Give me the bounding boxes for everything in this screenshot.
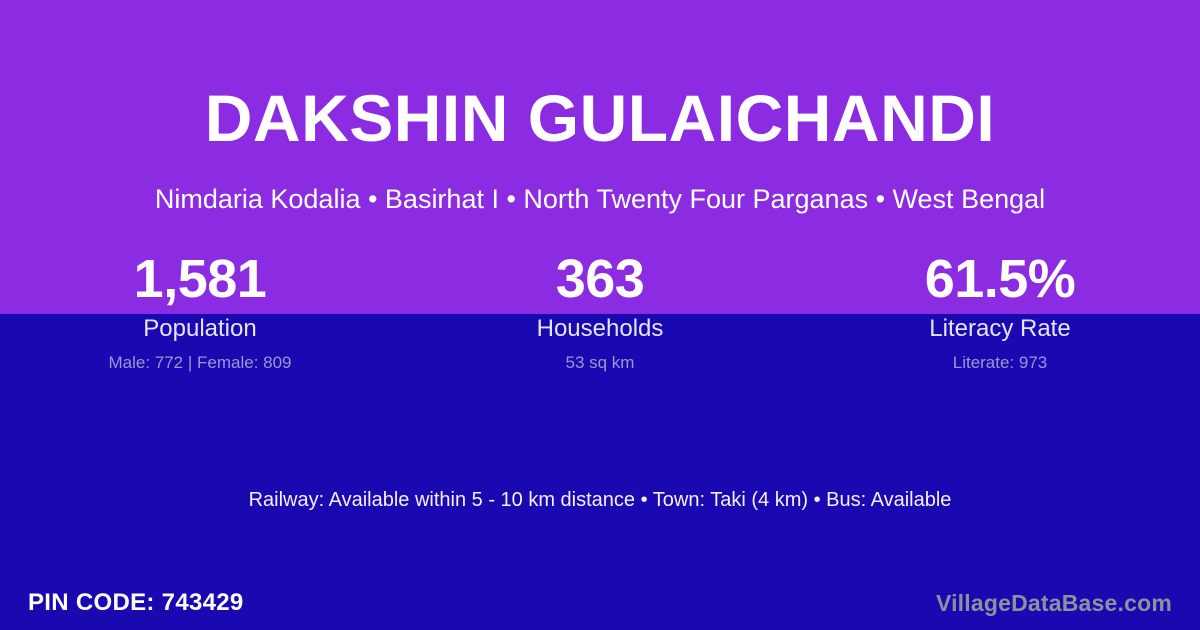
site-branding: VillageDataBase.com xyxy=(936,588,1172,618)
footer: PIN CODE: 743429 VillageDataBase.com xyxy=(0,575,1200,630)
infrastructure-summary: Railway: Available within 5 - 10 km dist… xyxy=(0,486,1200,514)
breadcrumb: Nimdaria Kodalia • Basirhat I • North Tw… xyxy=(0,182,1200,216)
stat-label: Literacy Rate xyxy=(800,314,1200,344)
stats-row: 1,581 Population Male: 772 | Female: 809… xyxy=(0,248,1200,374)
page-title: DAKSHIN GULAICHANDI xyxy=(0,82,1200,154)
stat-literacy-rate: 61.5% Literacy Rate Literate: 973 xyxy=(800,248,1200,374)
stat-label: Population xyxy=(0,314,400,344)
village-info-card: DAKSHIN GULAICHANDI Nimdaria Kodalia • B… xyxy=(0,0,1200,630)
stat-value: 61.5% xyxy=(800,248,1200,310)
stat-value: 363 xyxy=(400,248,800,310)
stat-label: Households xyxy=(400,314,800,344)
stat-population: 1,581 Population Male: 772 | Female: 809 xyxy=(0,248,400,374)
pin-code: PIN CODE: 743429 xyxy=(28,588,244,618)
stat-value: 1,581 xyxy=(0,248,400,310)
stat-households: 363 Households 53 sq km xyxy=(400,248,800,374)
stat-sublabel: 53 sq km xyxy=(400,352,800,374)
stat-sublabel: Male: 772 | Female: 809 xyxy=(0,352,400,374)
stat-sublabel: Literate: 973 xyxy=(800,352,1200,374)
